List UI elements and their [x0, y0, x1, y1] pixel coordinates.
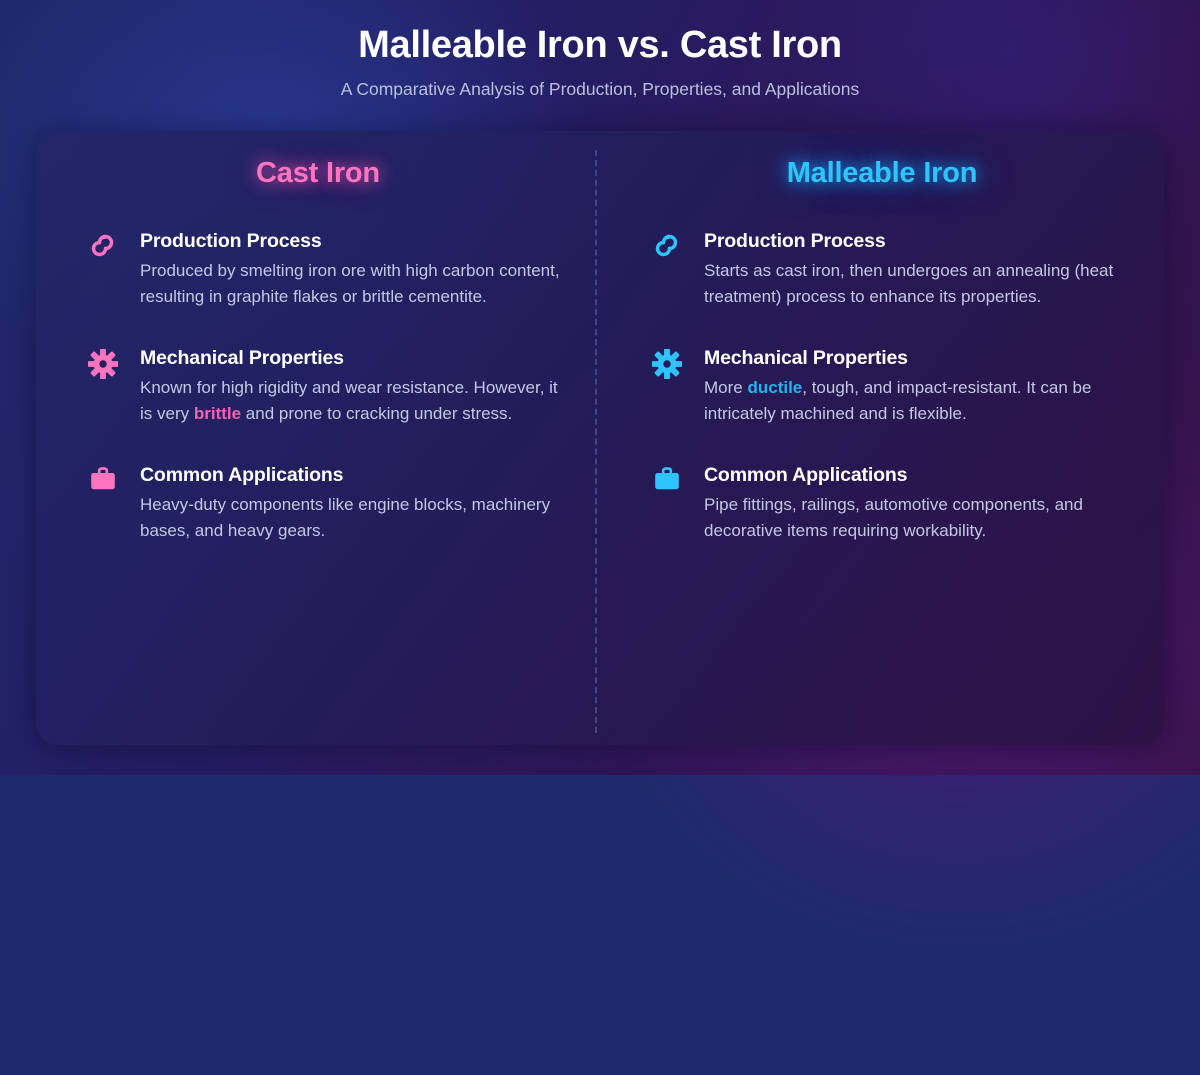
- description-text: Heavy-duty components like engine blocks…: [140, 495, 550, 540]
- page-title: Malleable Iron vs. Cast Iron: [0, 22, 1200, 68]
- feature-description: Starts as cast iron, then undergoes an a…: [704, 258, 1126, 310]
- feature-body: Production ProcessStarts as cast iron, t…: [704, 229, 1126, 310]
- description-text: Produced by smelting iron ore with high …: [140, 261, 560, 306]
- gear-icon: [652, 349, 690, 383]
- feature-item: Production ProcessStarts as cast iron, t…: [600, 229, 1164, 310]
- highlighted-term: brittle: [194, 404, 241, 423]
- feature-item: Mechanical PropertiesKnown for high rigi…: [36, 346, 600, 427]
- feature-description: Pipe fittings, railings, automotive comp…: [704, 492, 1126, 544]
- column-heading-malleable-iron: Malleable Iron: [600, 155, 1164, 191]
- briefcase-icon: [652, 466, 690, 500]
- gear-icon: [88, 349, 126, 383]
- feature-list-cast-iron: Production ProcessProduced by smelting i…: [36, 229, 600, 544]
- briefcase-icon: [88, 466, 126, 500]
- feature-title: Production Process: [704, 229, 1126, 253]
- comparison-panel: Cast Iron Production ProcessProduced by …: [36, 131, 1164, 745]
- feature-body: Production ProcessProduced by smelting i…: [140, 229, 562, 310]
- column-divider: [595, 150, 597, 733]
- column-malleable-iron: Malleable Iron Production ProcessStarts …: [600, 131, 1164, 745]
- feature-body: Common ApplicationsPipe fittings, railin…: [704, 463, 1126, 544]
- refresh-cycle-icon: [88, 232, 126, 266]
- feature-body: Mechanical PropertiesMore ductile, tough…: [704, 346, 1126, 427]
- feature-item: Production ProcessProduced by smelting i…: [36, 229, 600, 310]
- feature-description: More ductile, tough, and impact-resistan…: [704, 375, 1126, 427]
- feature-description: Heavy-duty components like engine blocks…: [140, 492, 562, 544]
- column-heading-cast-iron: Cast Iron: [36, 155, 600, 191]
- feature-item: Common ApplicationsPipe fittings, railin…: [600, 463, 1164, 544]
- feature-item: Common ApplicationsHeavy-duty components…: [36, 463, 600, 544]
- feature-body: Mechanical PropertiesKnown for high rigi…: [140, 346, 562, 427]
- feature-description: Known for high rigidity and wear resista…: [140, 375, 562, 427]
- description-text: Pipe fittings, railings, automotive comp…: [704, 495, 1083, 540]
- feature-title: Mechanical Properties: [704, 346, 1126, 370]
- feature-item: Mechanical PropertiesMore ductile, tough…: [600, 346, 1164, 427]
- description-text: More: [704, 378, 747, 397]
- description-text: and prone to cracking under stress.: [241, 404, 512, 423]
- page-subtitle: A Comparative Analysis of Production, Pr…: [0, 78, 1200, 100]
- feature-list-malleable-iron: Production ProcessStarts as cast iron, t…: [600, 229, 1164, 544]
- feature-body: Common ApplicationsHeavy-duty components…: [140, 463, 562, 544]
- feature-description: Produced by smelting iron ore with high …: [140, 258, 562, 310]
- feature-title: Mechanical Properties: [140, 346, 562, 370]
- description-text: Starts as cast iron, then undergoes an a…: [704, 261, 1113, 306]
- feature-title: Common Applications: [140, 463, 562, 487]
- highlighted-term: ductile: [747, 378, 802, 397]
- column-cast-iron: Cast Iron Production ProcessProduced by …: [36, 131, 600, 745]
- infographic: Malleable Iron vs. Cast Iron A Comparati…: [0, 0, 1200, 775]
- refresh-cycle-icon: [652, 232, 690, 266]
- feature-title: Common Applications: [704, 463, 1126, 487]
- feature-title: Production Process: [140, 229, 562, 253]
- header: Malleable Iron vs. Cast Iron A Comparati…: [0, 0, 1200, 100]
